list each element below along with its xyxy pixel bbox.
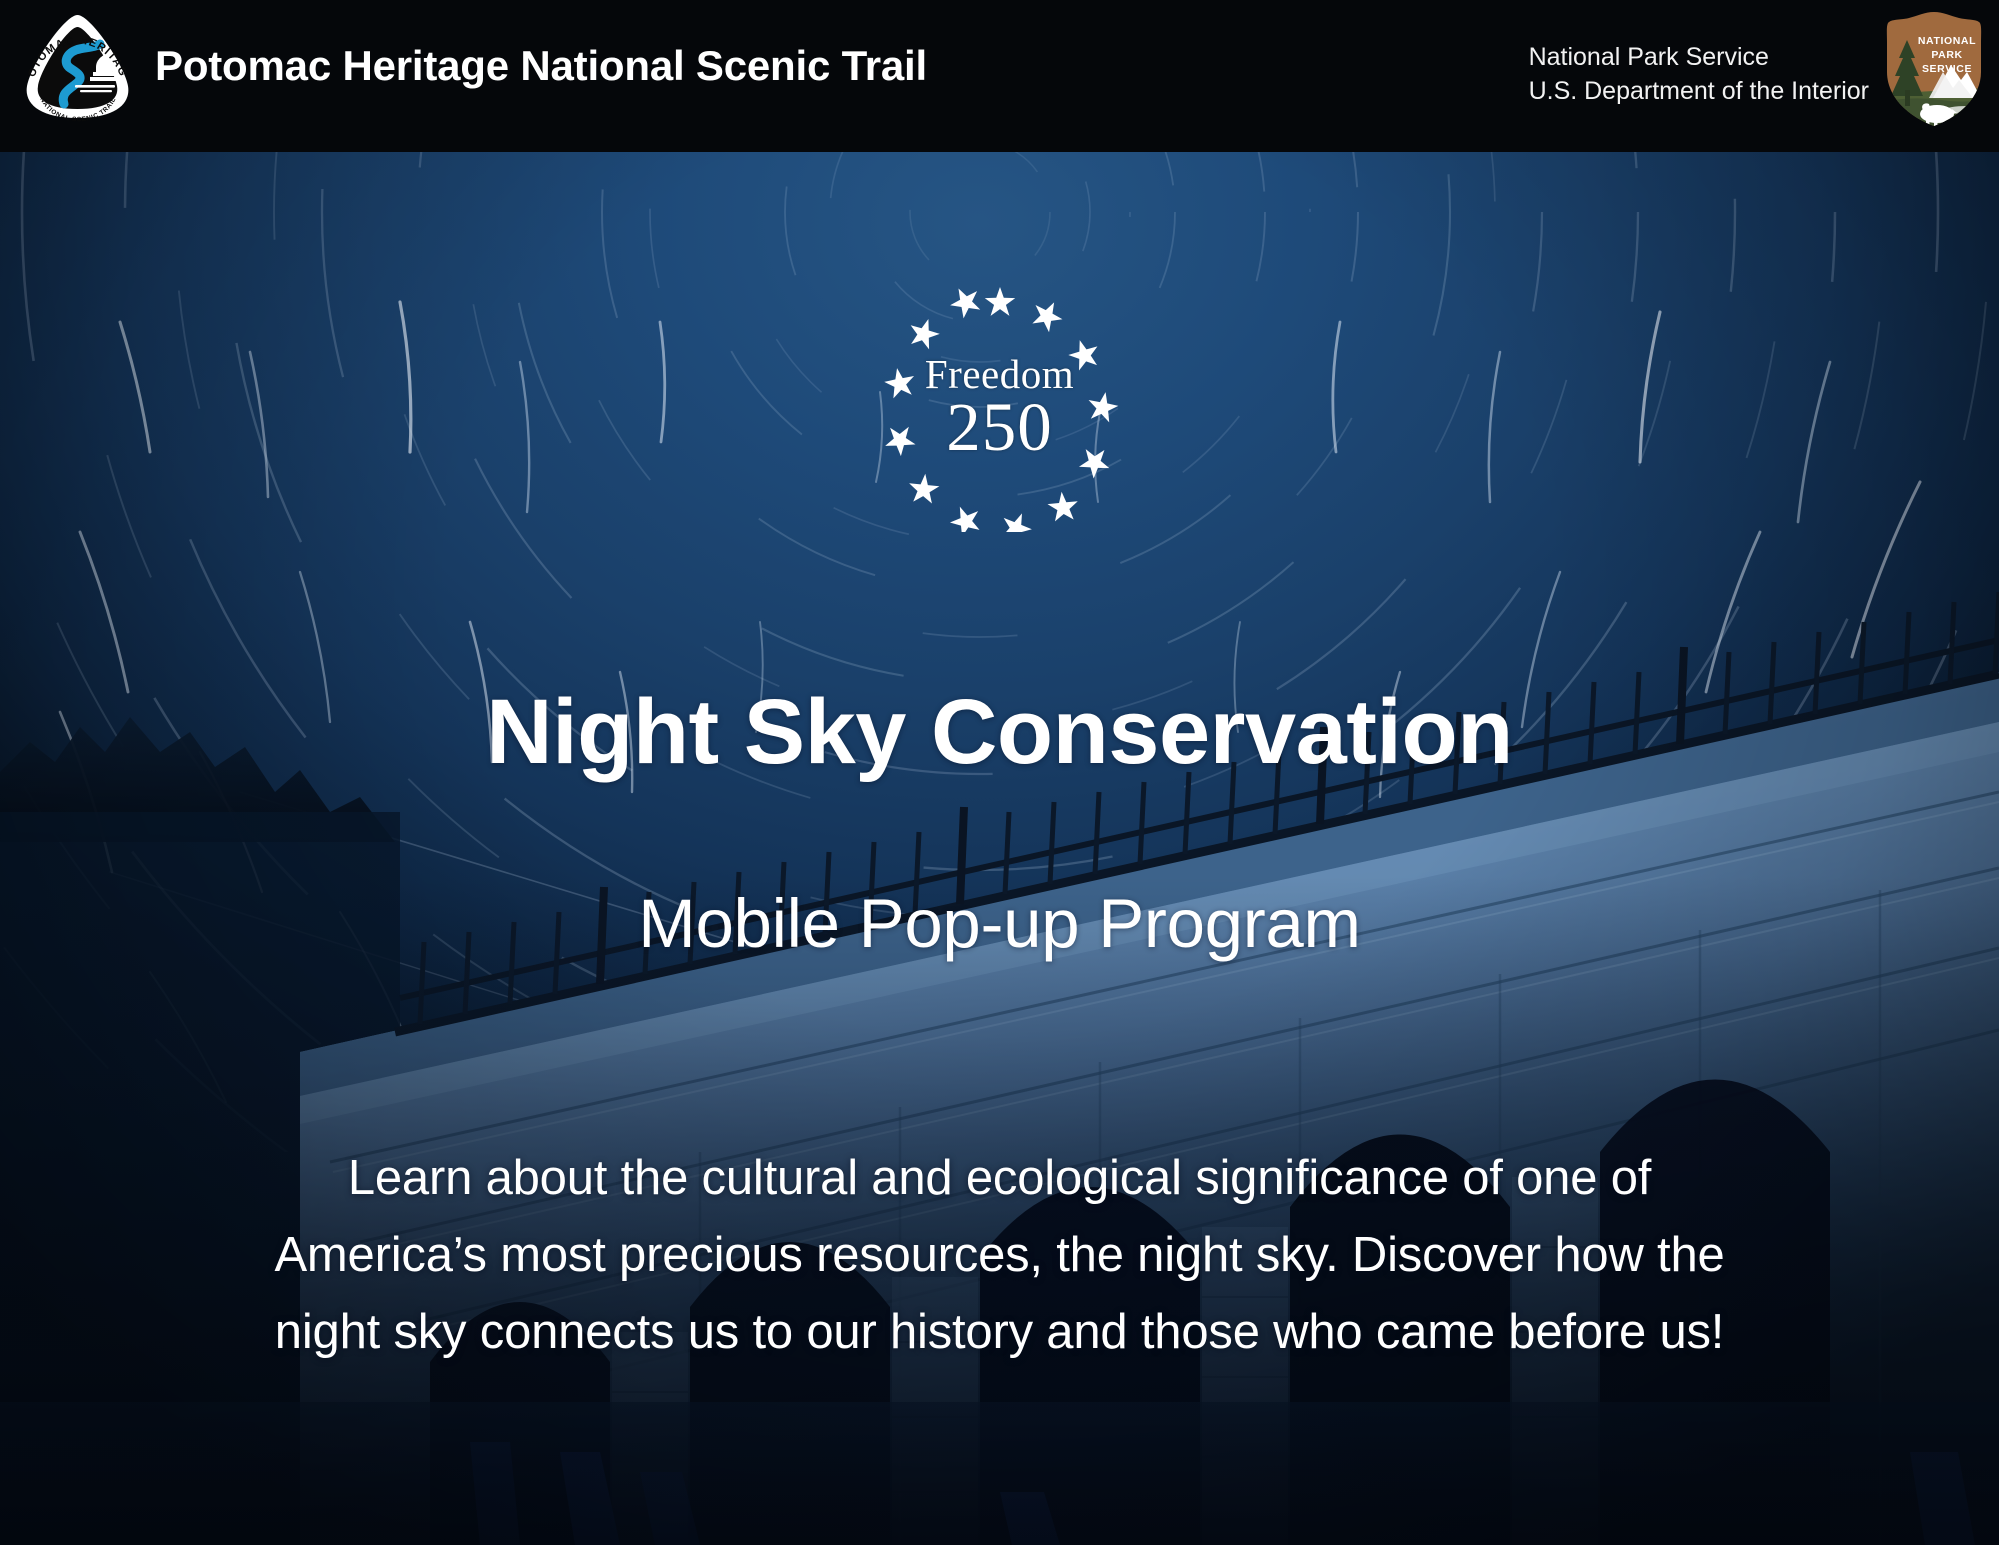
nps-arrowhead-icon: NATIONAL PARK SERVICE [1881,10,1987,128]
potomac-heritage-trail-shield-logo: POTOMAC HERITAGE NATIONAL SCENIC TRAIL [20,12,135,124]
agency-line-1: National Park Service [1529,43,1769,71]
svg-text:PARK: PARK [1931,49,1962,61]
page-title: Night Sky Conservation [0,680,1999,785]
agency-name: National Park Service U.S. Department of… [1529,40,1869,108]
park-title: Potomac Heritage National Scenic Trail [155,42,927,90]
agency-line-2: U.S. Department of the Interior [1529,74,1869,108]
description-line-1: Learn about the cultural and ecological … [160,1140,1840,1217]
svg-text:SERVICE: SERVICE [1922,63,1972,75]
description-paragraph: Learn about the cultural and ecological … [160,1140,1840,1371]
freedom-250-seal-icon: Freedom 250 [875,282,1125,532]
nps-header-bar: POTOMAC HERITAGE NATIONAL SCENIC TRAIL P… [0,0,1999,152]
presentation-slide: Freedom 250 Night Sky Conservation Mobil… [0,0,1999,1545]
description-line-2: America’s most precious resources, the n… [160,1217,1840,1294]
description-line-3: night sky connects us to our history and… [160,1294,1840,1371]
page-subtitle: Mobile Pop-up Program [0,884,1999,963]
svg-text:NATIONAL: NATIONAL [1918,35,1976,47]
